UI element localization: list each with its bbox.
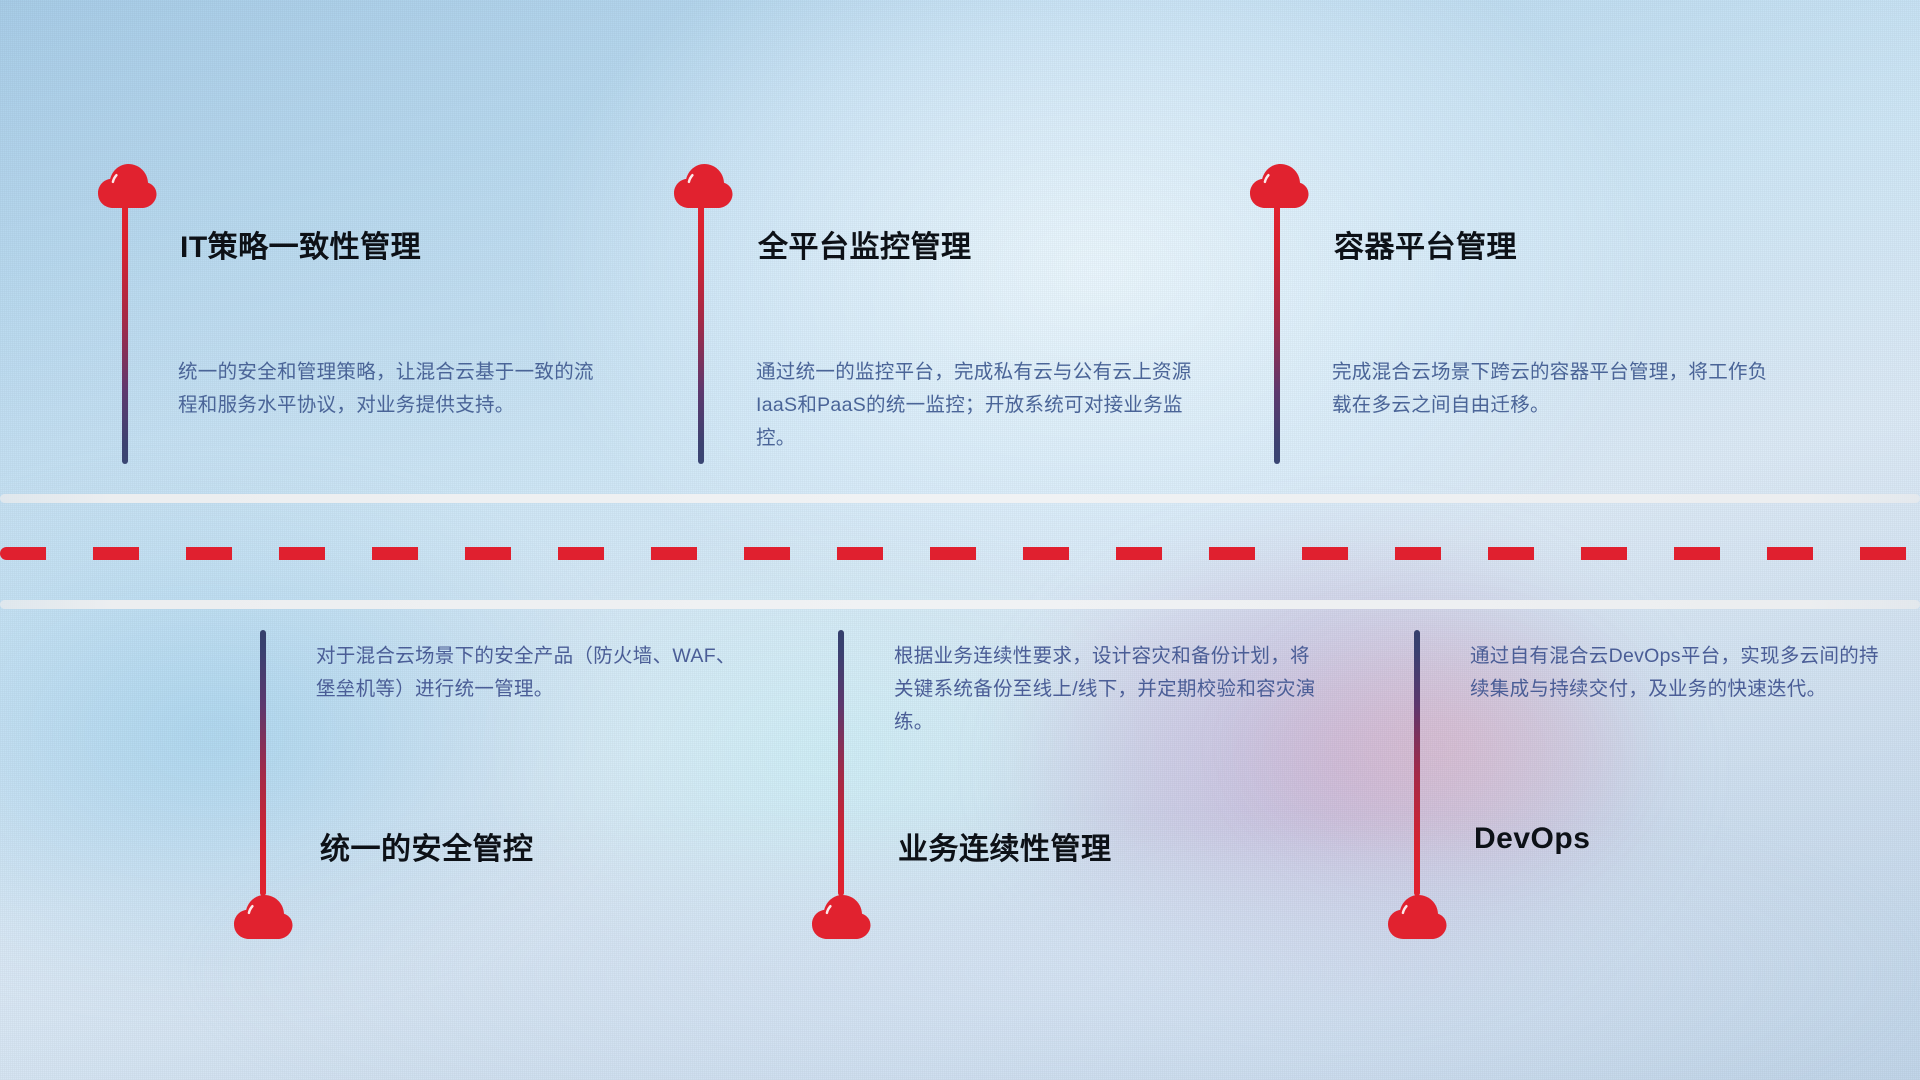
top-item-3-heading: 容器平台管理 bbox=[1334, 222, 1517, 266]
connector-stem bbox=[698, 205, 704, 464]
infographic-canvas: IT策略一致性管理 统一的安全和管理策略，让混合云基于一致的流程和服务水平协议，… bbox=[0, 0, 1920, 1080]
bottom-item-2-heading: 业务连续性管理 bbox=[898, 824, 1112, 868]
cloud-pin-icon bbox=[1248, 159, 1310, 209]
bottom-item-1-body: 对于混合云场景下的安全产品（防火墙、WAF、堡垒机等）进行统一管理。 bbox=[316, 640, 744, 706]
bottom-item-3-heading: DevOps bbox=[1474, 822, 1590, 856]
road-edge-bottom-line bbox=[0, 600, 1920, 609]
road-divider bbox=[0, 488, 1920, 620]
cloud-pin-icon bbox=[672, 159, 734, 209]
connector-stem bbox=[122, 205, 128, 464]
top-item-1-body: 统一的安全和管理策略，让混合云基于一致的流程和服务水平协议，对业务提供支持。 bbox=[178, 356, 610, 422]
bottom-item-2-body: 根据业务连续性要求，设计容灾和备份计划，将关键系统备份至线上/线下，并定期校验和… bbox=[894, 640, 1326, 739]
top-item-1-heading: IT策略一致性管理 bbox=[180, 222, 421, 266]
cloud-pin-icon bbox=[810, 890, 872, 940]
cloud-pin-icon bbox=[1386, 890, 1448, 940]
connector-stem bbox=[838, 630, 844, 896]
road-edge-top-line bbox=[0, 494, 1920, 503]
top-item-3-body: 完成混合云场景下跨云的容器平台管理，将工作负载在多云之间自由迁移。 bbox=[1332, 356, 1772, 422]
connector-stem bbox=[1414, 630, 1420, 896]
top-item-2-heading: 全平台监控管理 bbox=[758, 222, 972, 266]
bottom-item-3-body: 通过自有混合云DevOps平台，实现多云间的持续集成与持续交付，及业务的快速迭代… bbox=[1470, 640, 1890, 706]
top-item-2-body: 通过统一的监控平台，完成私有云与公有云上资源IaaS和PaaS的统一监控；开放系… bbox=[756, 356, 1204, 455]
connector-stem bbox=[1274, 205, 1280, 464]
connector-stem bbox=[260, 630, 266, 896]
cloud-pin-icon bbox=[232, 890, 294, 940]
bottom-item-1-heading: 统一的安全管控 bbox=[320, 824, 534, 868]
cloud-pin-icon bbox=[96, 159, 158, 209]
road-center-dashed-line bbox=[0, 547, 1920, 560]
